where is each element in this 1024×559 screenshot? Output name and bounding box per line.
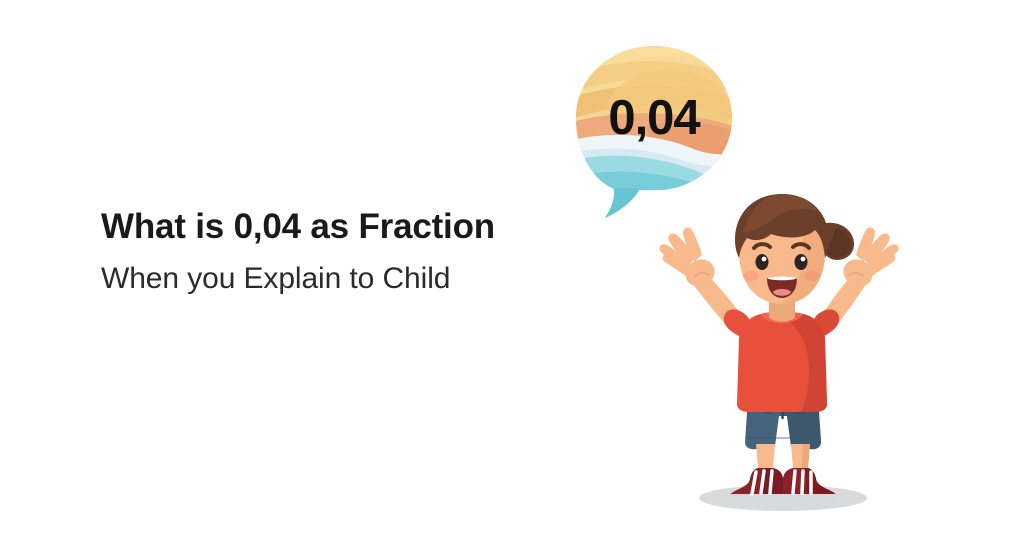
page-title: What is 0,04 as Fraction — [101, 206, 621, 247]
happy-child-icon — [655, 180, 905, 525]
poster-canvas: What is 0,04 as Fraction When you Explai… — [0, 0, 1024, 559]
left-sneaker — [728, 468, 783, 502]
head-with-ponytail — [735, 194, 854, 304]
red-tshirt — [724, 309, 839, 412]
right-sneaker — [783, 468, 838, 502]
page-subtitle: When you Explain to Child — [101, 261, 621, 297]
text-block: What is 0,04 as Fraction When you Explai… — [101, 206, 621, 297]
child-illustration — [655, 180, 905, 525]
